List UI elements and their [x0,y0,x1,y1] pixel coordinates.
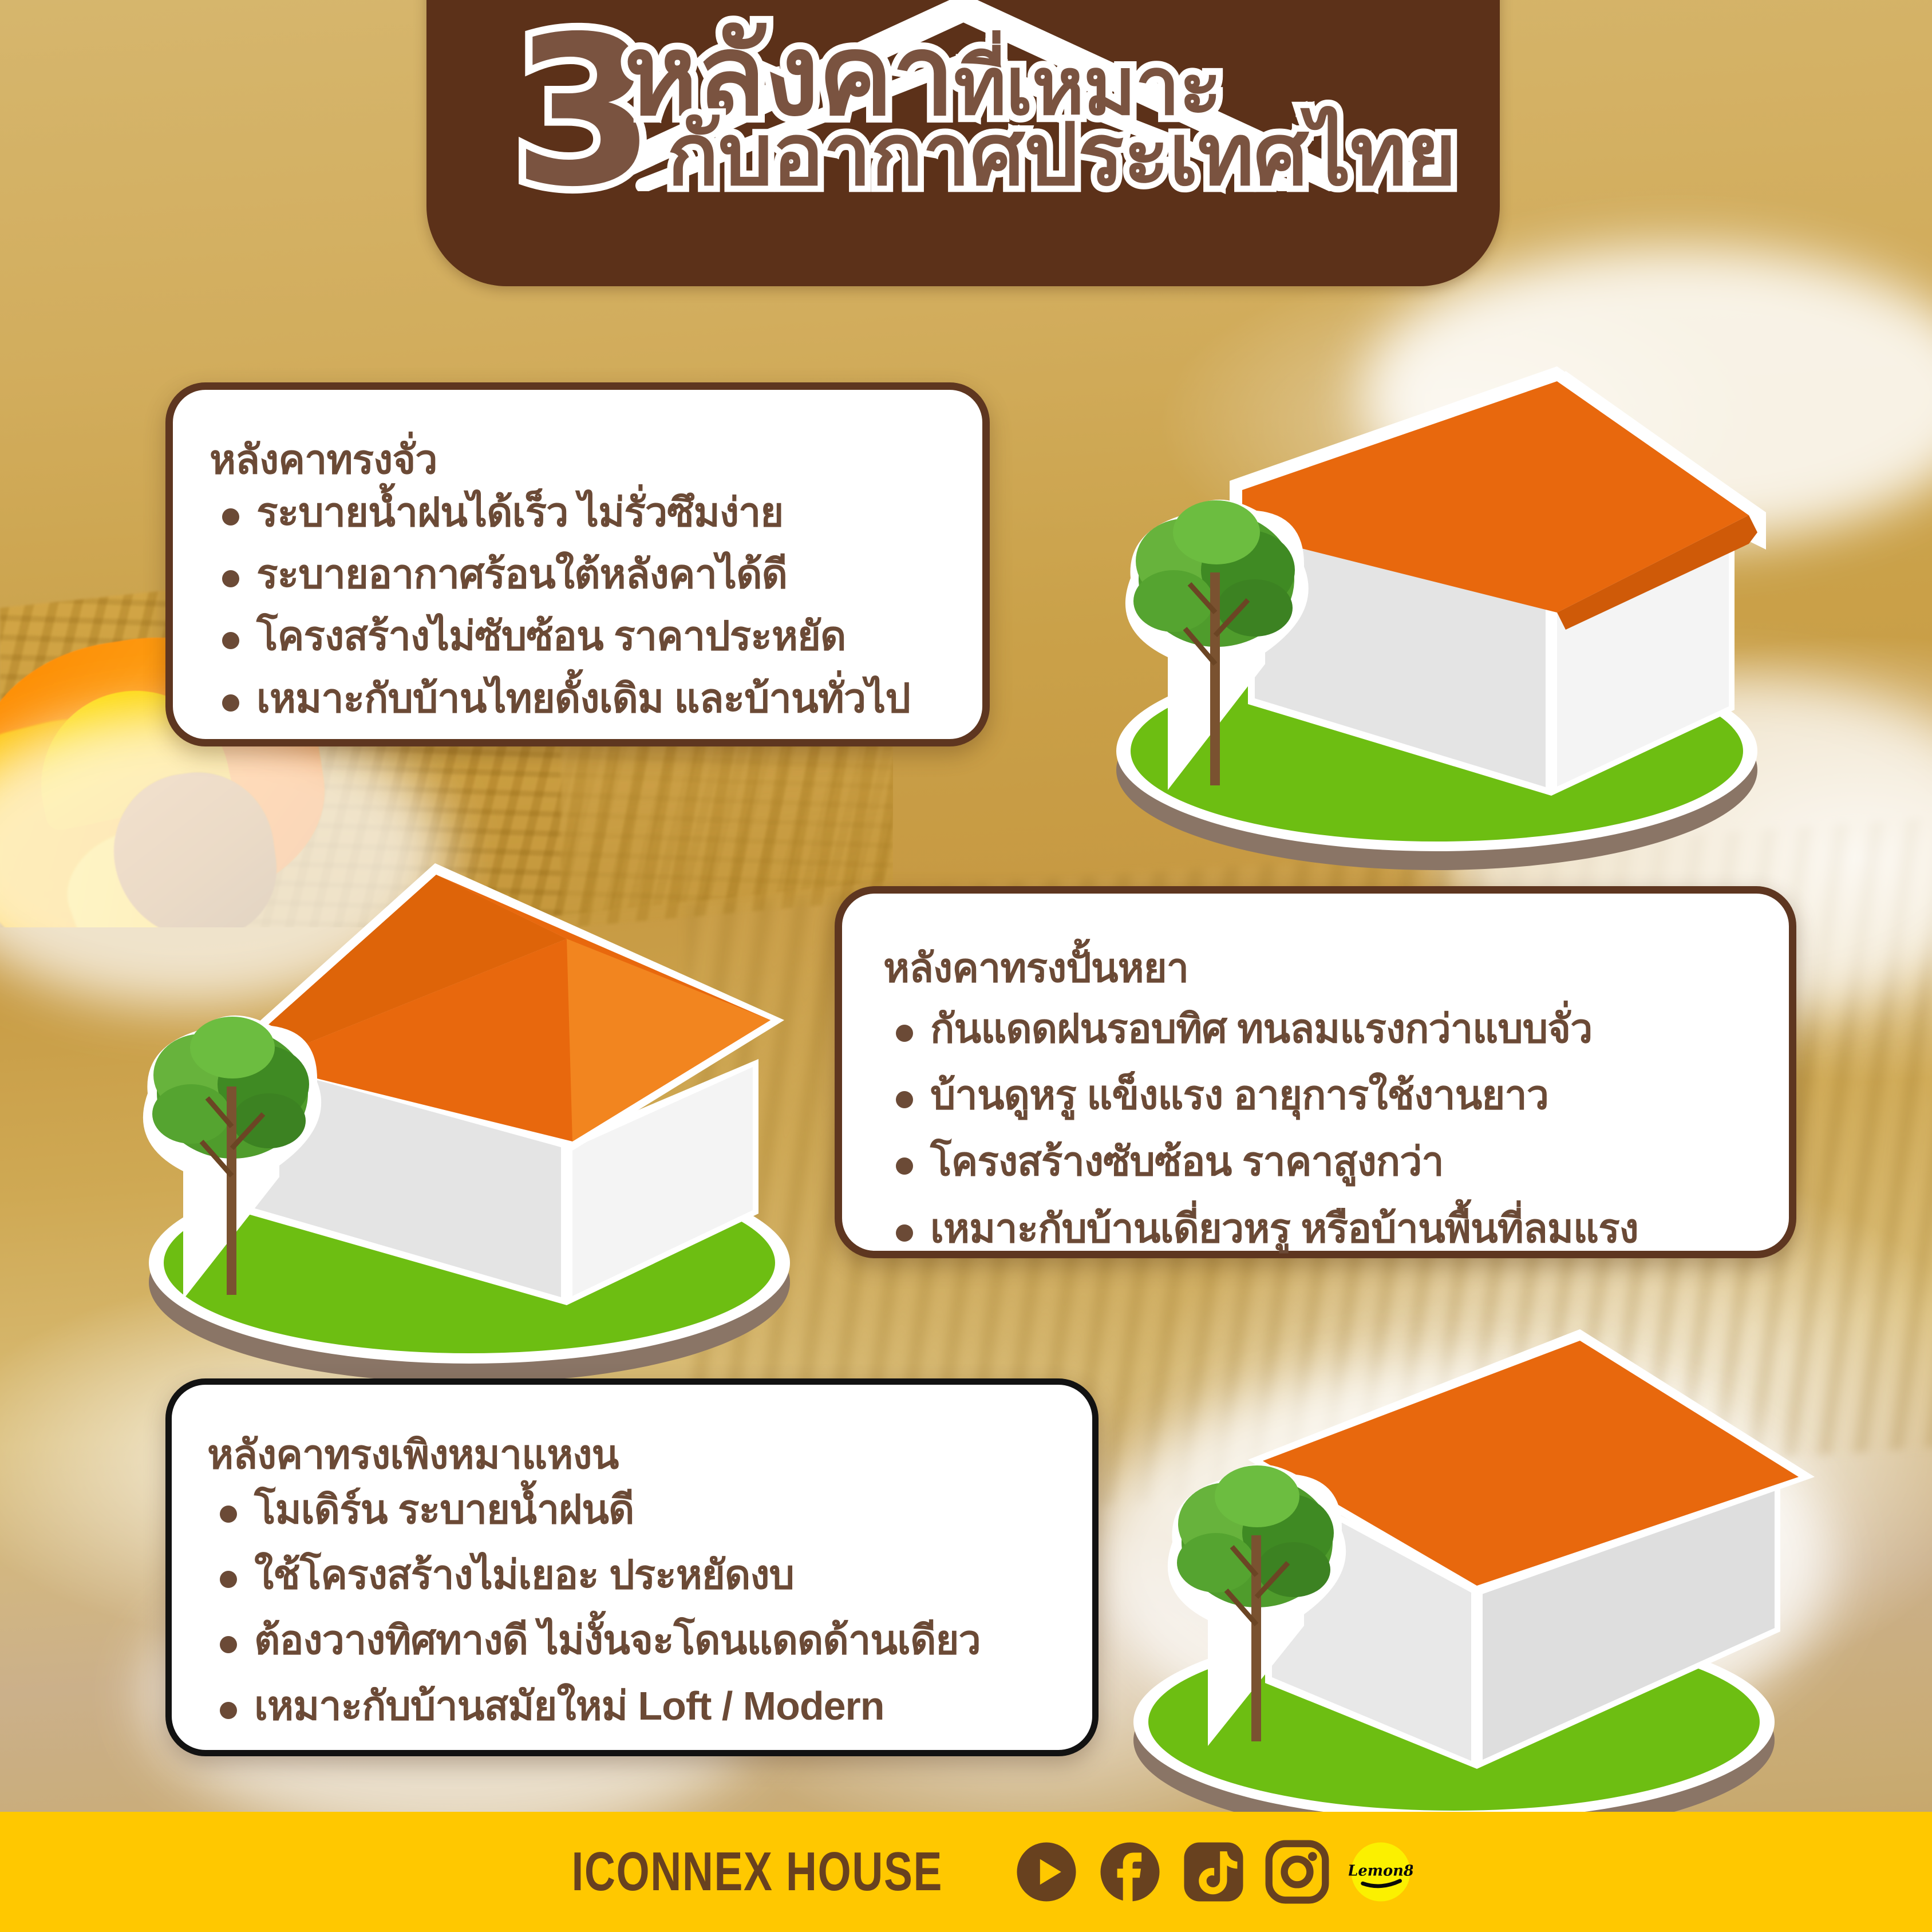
instagram-icon[interactable] [1265,1840,1329,1904]
bullet-dot-icon [220,1571,237,1588]
bullet-dot-icon [896,1025,913,1042]
list-item: เหมาะกับบ้านเดี่ยวหรู หรือบ้านพื้นที่ลมแ… [883,1207,1753,1250]
header-banner: 3 หลังคาที่เหมาะ กับอากาศประเทศไทย [426,0,1500,286]
bullet-list-shed: โมเดิร์น ระบายน้ำฝนดี ใช้โครงสร้างไม่เยอ… [207,1488,1062,1727]
bullet-dot-icon [222,508,239,526]
bullet-text: บ้านดูหรู แข็งแรง อายุการใช้งานยาว [930,1073,1548,1117]
footer-bar: ICONNEX HOUSE Lemon8 [0,1812,1932,1932]
list-item: เหมาะกับบ้านสมัยใหม่ Loft / Modern [207,1685,1062,1727]
header-title-line2: กับอากาศประเทศไทย [667,112,1456,198]
list-item: บ้านดูหรู แข็งแรง อายุการใช้งานยาว [883,1074,1753,1116]
lemon8-icon[interactable]: Lemon8 [1349,1840,1413,1904]
header-title-group: 3 หลังคาที่เหมาะ กับอากาศประเทศไทย [426,6,1500,212]
bullet-text: โครงสร้างไม่ซับซ้อน ราคาประหยัด [256,614,846,658]
youtube-icon[interactable] [1014,1840,1078,1904]
list-item: ต้องวางทิศทางดี ไม่งั้นจะโดนแดดด้านเดียว [207,1619,1062,1661]
bullet-dot-icon [896,1157,913,1175]
bullet-text: เหมาะกับบ้านสมัยใหม่ Loft / Modern [254,1684,884,1728]
bullet-text: กันแดดฝนรอบทิศ ทนลมแรงกว่าแบบจั่ว [930,1006,1592,1051]
bullet-text: ต้องวางทิศทางดี ไม่งั้นจะโดนแดดด้านเดียว [254,1618,981,1662]
list-item: กันแดดฝนรอบทิศ ทนลมแรงกว่าแบบจั่ว [883,1008,1753,1050]
bullet-list-hip: กันแดดฝนรอบทิศ ทนลมแรงกว่าแบบจั่ว บ้านดู… [883,1008,1753,1250]
list-item: เหมาะกับบ้านไทยดั้งเดิม และบ้านทั่วไป [210,677,947,720]
bullet-dot-icon [222,570,239,587]
info-card-gable: หลังคาทรงจั่ว ระบายน้ำฝนได้เร็ว ไม่รั่วซ… [165,382,990,746]
info-card-shed: หลังคาทรงเพิงหมาแหงน โมเดิร์น ระบายน้ำฝน… [165,1378,1099,1756]
bullet-list-gable: ระบายน้ำฝนได้เร็ว ไม่รั่วซึมง่าย ระบายอา… [210,491,947,720]
illustration-house-shed [1076,1288,1832,1860]
poster-root: 3 หลังคาที่เหมาะ กับอากาศประเทศไทย หลังค… [0,0,1932,1932]
bullet-text: ระบายอากาศร้อนใต้หลังคาได้ดี [256,552,787,596]
list-item: โครงสร้างไม่ซับซ้อน ราคาประหยัด [210,615,947,657]
list-item: โมเดิร์น ระบายน้ำฝนดี [207,1488,1062,1531]
bullet-text: เหมาะกับบ้านไทยดั้งเดิม และบ้านทั่วไป [256,676,910,721]
list-item: ระบายอากาศร้อนใต้หลังคาได้ดี [210,553,947,595]
bullet-text: ใช้โครงสร้างไม่เยอะ ประหยัดงบ [254,1552,794,1597]
bullet-dot-icon [220,1636,237,1653]
card-title-shed: หลังคาทรงเพิงหมาแหงน [207,1433,1062,1477]
illustration-house-hip [114,847,870,1420]
card-title-hip: หลังคาทรงปั้นหยา [883,946,1753,990]
list-item: ระบายน้ำฝนได้เร็ว ไม่รั่วซึมง่าย [210,491,947,534]
list-item: ใช้โครงสร้างไม่เยอะ ประหยัดงบ [207,1554,1062,1596]
illustration-house-gable [1076,343,1832,916]
bullet-text: โครงสร้างซับซ้อน ราคาสูงกว่า [930,1139,1444,1184]
bullet-dot-icon [896,1224,913,1242]
facebook-icon[interactable] [1098,1840,1162,1904]
bullet-dot-icon [220,1506,237,1523]
list-item: โครงสร้างซับซ้อน ราคาสูงกว่า [883,1140,1753,1183]
bullet-text: เหมาะกับบ้านเดี่ยวหรู หรือบ้านพื้นที่ลมแ… [930,1206,1638,1251]
bullet-dot-icon [222,632,239,649]
bullet-dot-icon [222,694,239,712]
bullet-text: โมเดิร์น ระบายน้ำฝนดี [254,1487,634,1532]
bullet-text: ระบายน้ำฝนได้เร็ว ไม่รั่วซึมง่าย [256,490,783,535]
bullet-dot-icon [220,1702,237,1719]
card-title-gable: หลังคาทรงจั่ว [210,438,947,482]
brand-name: ICONNEX HOUSE [571,1840,943,1903]
tiktok-icon[interactable] [1182,1840,1246,1904]
info-card-hip: หลังคาทรงปั้นหยา กันแดดฝนรอบทิศ ทนลมแรงก… [835,886,1796,1258]
svg-text:Lemon8: Lemon8 [1349,1863,1413,1880]
bullet-dot-icon [896,1091,913,1108]
